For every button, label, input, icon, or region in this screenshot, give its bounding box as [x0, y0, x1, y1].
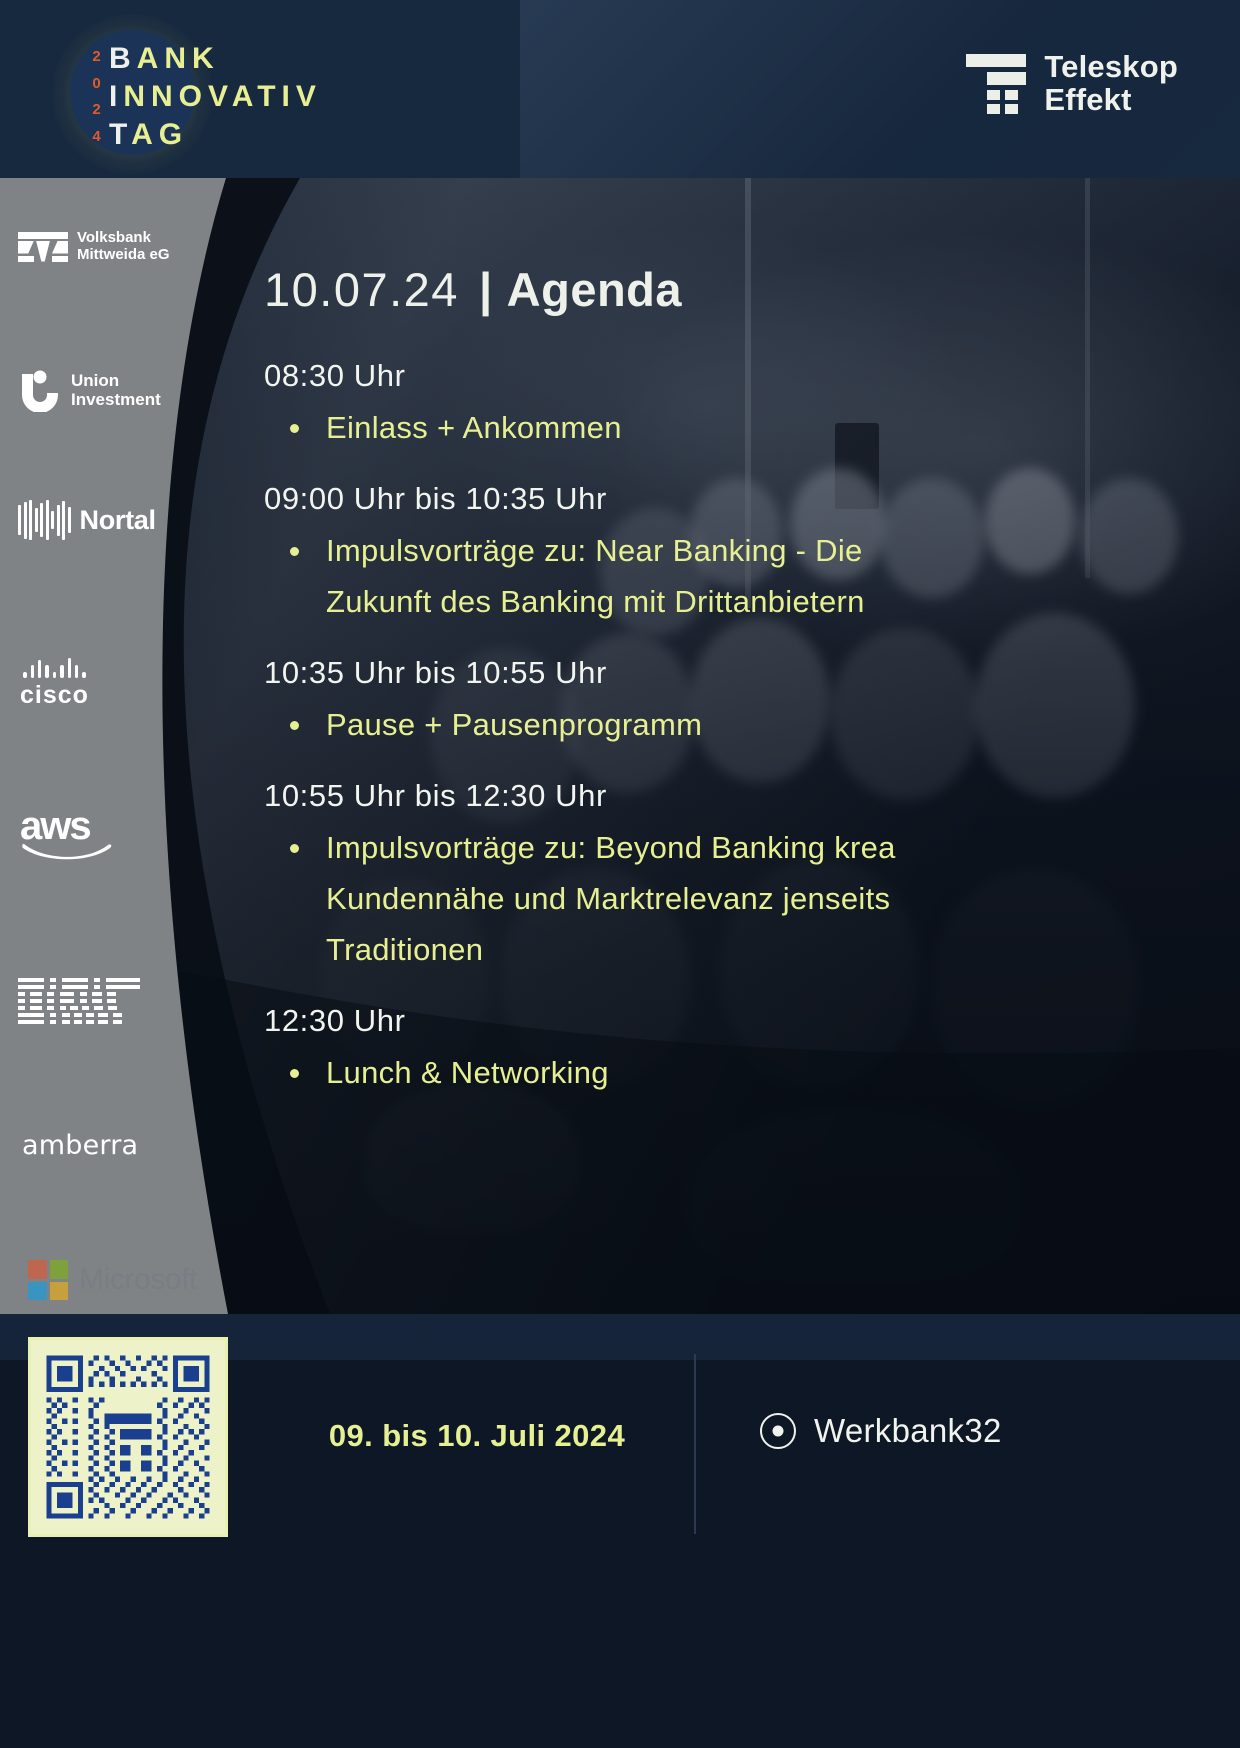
- logo-first-letter: B: [109, 42, 137, 75]
- volksbank-logo-icon: [18, 232, 68, 262]
- sponsor-list: Volksbank Mittweida eG Union Investment: [0, 178, 232, 1314]
- qr-code[interactable]: [28, 1337, 228, 1537]
- event-date-range: 09. bis 10. Juli 2024: [262, 1418, 692, 1454]
- amberra-label: amberra: [22, 1130, 138, 1161]
- sponsor-amberra[interactable]: amberra: [22, 1130, 138, 1161]
- slot-item-list: Einlass + Ankommen: [264, 402, 1240, 453]
- event-logo: 2 0 2 4 BANK INNOVATIV TAG: [88, 28, 322, 154]
- slot-time: 10:55 Uhr bis 12:30 Uhr: [264, 774, 1240, 818]
- cisco-label: cisco: [20, 681, 89, 710]
- agenda-slot: 09:00 Uhr bis 10:35 Uhr Impulsvorträge z…: [264, 477, 1240, 627]
- event-logo-year: 2 0 2 4: [88, 28, 105, 150]
- slot-item: Impulsvorträge zu: Beyond Banking krea: [264, 822, 1240, 873]
- teleskop-effekt-brand: Teleskop Effekt: [966, 50, 1178, 116]
- slot-item: Einlass + Ankommen: [264, 402, 1240, 453]
- volksbank-label-line2: Mittweida eG: [77, 247, 170, 264]
- agenda-panel: 10.07.24| Agenda 08:30 Uhr Einlass + Ank…: [264, 262, 1240, 1122]
- logo-first-letter: I: [109, 80, 123, 113]
- microsoft-logo: Microsoft: [28, 1260, 197, 1300]
- brand-name-line2: Effekt: [1044, 83, 1178, 116]
- slot-time: 12:30 Uhr: [264, 999, 1240, 1043]
- logo-first-letter: T: [109, 118, 131, 151]
- agenda-slot: 12:30 Uhr Lunch & Networking: [264, 999, 1240, 1098]
- slot-item-continuation: Traditionen: [264, 924, 1240, 975]
- slot-item-text: Pause + Pausenprogramm: [326, 707, 702, 742]
- volksbank-label: Volksbank Mittweida eG: [77, 230, 170, 263]
- ibm-logo-icon: IBM: [18, 978, 140, 1024]
- slot-item-list: Impulsvorträge zu: Beyond Banking krea K…: [264, 822, 1240, 975]
- event-logo-line-tag: TAG: [109, 116, 322, 154]
- logo-rest: AG: [131, 118, 188, 151]
- event-logo-line-innovativ: INNOVATIV: [109, 78, 322, 116]
- nortal-label: Nortal: [80, 505, 156, 536]
- slot-item-text: Traditionen: [326, 932, 483, 967]
- slot-item-continuation: Kundennähe und Marktrelevanz jenseits: [264, 873, 1240, 924]
- sponsor-sidebar: Volksbank Mittweida eG Union Investment: [0, 178, 232, 1314]
- event-logo-line-bank: BANK: [109, 40, 322, 78]
- bullet-icon: [290, 424, 299, 433]
- sponsor-ibm[interactable]: IBM: [18, 978, 140, 1024]
- bullet-icon: [290, 547, 299, 556]
- logo-rest: NNOVATIV: [123, 80, 322, 113]
- cisco-bars: [23, 658, 86, 678]
- brand-name-line1: Teleskop: [1044, 50, 1178, 83]
- slot-item: Lunch & Networking: [264, 1047, 1240, 1098]
- union-label-line2: Investment: [71, 390, 161, 409]
- title-separator: |: [479, 263, 492, 316]
- poster-header: 2 0 2 4 BANK INNOVATIV TAG Teleskop: [0, 0, 1240, 178]
- microsoft-label: Microsoft: [79, 1263, 197, 1297]
- aws-logo-icon: aws: [20, 806, 116, 862]
- event-logo-wordmark: BANK INNOVATIV TAG: [109, 28, 322, 154]
- slot-item-text: Einlass + Ankommen: [326, 410, 622, 445]
- slot-item: Impulsvorträge zu: Near Banking - Die: [264, 525, 1240, 576]
- sponsor-union-investment[interactable]: Union Investment: [18, 368, 161, 412]
- slot-item-text: Kundennähe und Marktrelevanz jenseits: [326, 881, 890, 916]
- location-pin-icon: [760, 1413, 796, 1449]
- slot-item-continuation: Zukunft des Banking mit Drittanbietern: [264, 576, 1240, 627]
- bullet-icon: [290, 721, 299, 730]
- aws-smile-icon: [22, 840, 114, 862]
- slot-item-list: Impulsvorträge zu: Near Banking - Die Zu…: [264, 525, 1240, 627]
- union-investment-label: Union Investment: [71, 371, 161, 409]
- sponsor-aws[interactable]: aws: [20, 806, 116, 862]
- cisco-logo-icon: cisco: [20, 658, 89, 710]
- page-title: 10.07.24| Agenda: [264, 262, 1240, 318]
- slot-item-text: Zukunft des Banking mit Drittanbietern: [326, 584, 865, 619]
- bullet-icon: [290, 1069, 299, 1078]
- event-venue: Werkbank32: [760, 1412, 1002, 1450]
- agenda-slot: 08:30 Uhr Einlass + Ankommen: [264, 354, 1240, 453]
- logo-rest: ANK: [137, 42, 220, 75]
- venue-label: Werkbank32: [814, 1412, 1002, 1450]
- teleskop-effekt-monogram-icon: [966, 52, 1026, 114]
- year-digit-2b: 2: [88, 97, 105, 124]
- slot-item: Pause + Pausenprogramm: [264, 699, 1240, 750]
- qr-code-image: [41, 1350, 215, 1524]
- agenda-slot: 10:55 Uhr bis 12:30 Uhr Impulsvorträge z…: [264, 774, 1240, 975]
- sponsor-volksbank[interactable]: Volksbank Mittweida eG: [18, 230, 170, 263]
- slot-item-list: Pause + Pausenprogramm: [264, 699, 1240, 750]
- slot-item-text: Impulsvorträge zu: Near Banking - Die: [326, 533, 863, 568]
- union-label-line1: Union: [71, 371, 161, 390]
- slot-item-list: Lunch & Networking: [264, 1047, 1240, 1098]
- slot-time: 09:00 Uhr bis 10:35 Uhr: [264, 477, 1240, 521]
- sponsor-nortal[interactable]: Nortal: [18, 500, 156, 540]
- nortal-logo-icon: [18, 500, 71, 540]
- year-digit-0: 0: [88, 71, 105, 98]
- union-investment-logo-icon: [18, 368, 62, 412]
- brand-name: Teleskop Effekt: [1044, 50, 1178, 116]
- slot-item-text: Lunch & Networking: [326, 1055, 609, 1090]
- sponsor-microsoft[interactable]: Microsoft: [28, 1260, 197, 1300]
- agenda-slot: 10:35 Uhr bis 10:55 Uhr Pause + Pausenpr…: [264, 651, 1240, 750]
- footer-divider: [694, 1354, 696, 1534]
- slot-item-text: Impulsvorträge zu: Beyond Banking krea: [326, 830, 896, 865]
- sponsor-cisco[interactable]: cisco: [20, 658, 89, 710]
- poster-root: 2 0 2 4 BANK INNOVATIV TAG Teleskop: [0, 0, 1240, 1748]
- decor-chair: [690, 1108, 1020, 1288]
- bullet-icon: [290, 844, 299, 853]
- slot-time: 10:35 Uhr bis 10:55 Uhr: [264, 651, 1240, 695]
- volksbank-label-line1: Volksbank: [77, 230, 170, 247]
- agenda-date: 10.07.24: [264, 263, 459, 316]
- microsoft-logo-icon: [28, 1260, 68, 1300]
- agenda-heading: Agenda: [507, 263, 682, 316]
- slot-time: 08:30 Uhr: [264, 354, 1240, 398]
- year-digit-2: 2: [88, 44, 105, 71]
- year-digit-4: 4: [88, 124, 105, 151]
